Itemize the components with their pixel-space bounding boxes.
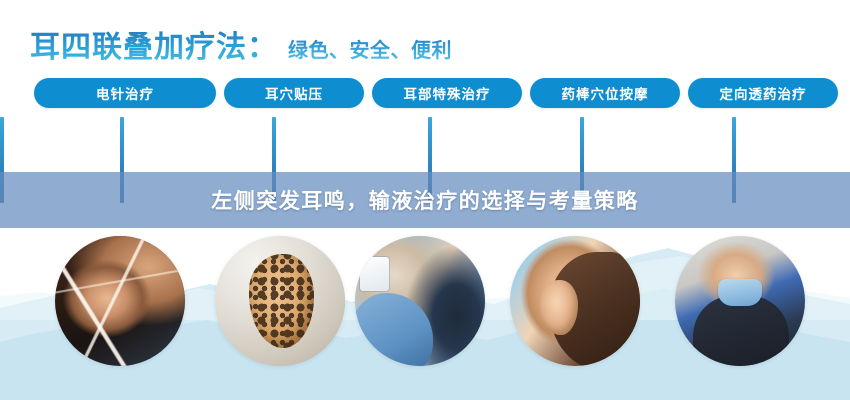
photo-ear-profile-closeup	[510, 236, 640, 366]
photo-clinician-ear-treatment	[355, 236, 485, 366]
photo-electro-acupuncture-ear	[55, 236, 185, 366]
therapy-pill-3[interactable]: 耳部特殊治疗	[372, 78, 522, 108]
therapy-pill-5[interactable]: 定向透药治疗	[688, 78, 838, 108]
poster-title: 耳四联叠加疗法： 绿色、安全、便利	[30, 22, 452, 66]
photo-circle-5	[675, 236, 805, 366]
photo-circle-1	[55, 236, 185, 366]
photo-circle-3	[355, 236, 485, 366]
headline-band: 左侧突发耳鸣，输液治疗的选择与考量策略	[0, 172, 850, 228]
photo-circle-4	[510, 236, 640, 366]
photo-auricular-seed-model	[215, 236, 345, 366]
photo-circle-2	[215, 236, 345, 366]
title-subtitle-text: 绿色、安全、便利	[288, 34, 452, 63]
therapy-pill-4[interactable]: 药棒穴位按摩	[530, 78, 680, 108]
therapy-pill-1[interactable]: 电针治疗	[34, 78, 216, 108]
therapy-pill-row: 电针治疗 耳穴贴压 耳部特殊治疗 药棒穴位按摩 定向透药治疗	[34, 78, 838, 108]
headline-text: 左侧突发耳鸣，输液治疗的选择与考量策略	[211, 185, 639, 215]
promo-poster: 耳四联叠加疗法： 绿色、安全、便利 电针治疗 耳穴贴压 耳部特殊治疗 药棒穴位按…	[0, 0, 850, 400]
photo-patient-electrode-therapy	[675, 236, 805, 366]
title-main-text: 耳四联叠加疗法：	[30, 22, 278, 66]
therapy-pill-2[interactable]: 耳穴贴压	[224, 78, 364, 108]
